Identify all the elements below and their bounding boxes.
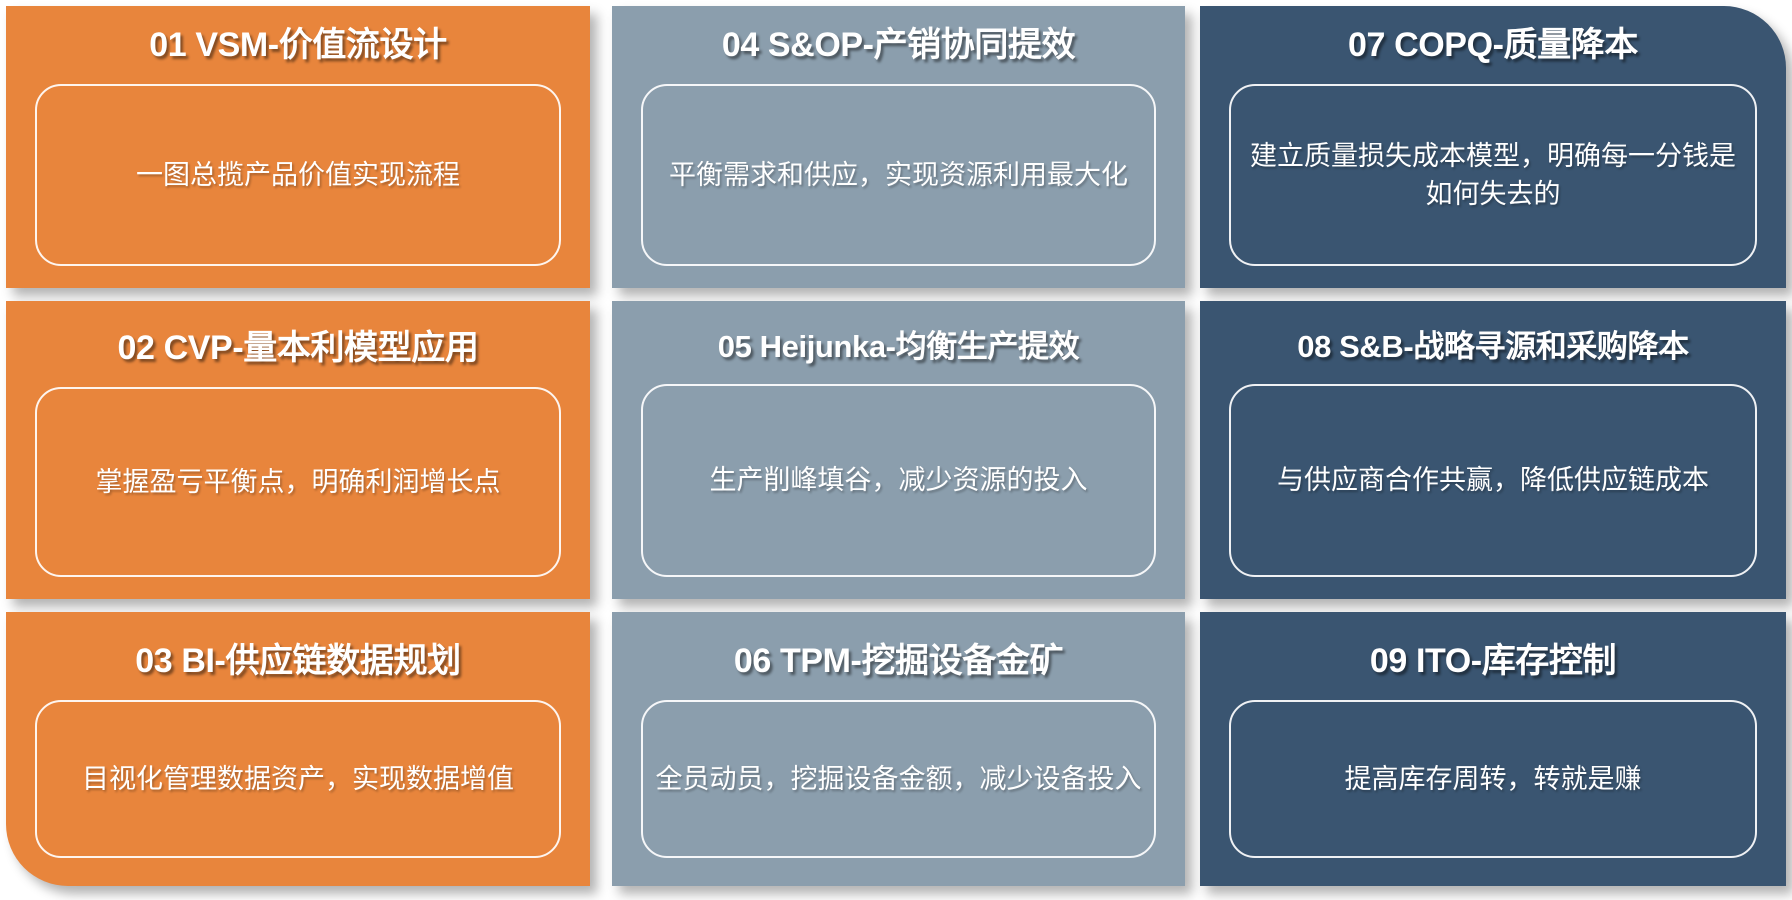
card-body-text: 目视化管理数据资产，实现数据增值 <box>72 760 524 798</box>
card-08-sb[interactable]: 08 S&B-战略寻源和采购降本 与供应商合作共赢，降低供应链成本 <box>1200 301 1786 599</box>
card-body: 平衡需求和供应，实现资源利用最大化 <box>641 84 1156 266</box>
card-title: 05 Heijunka-均衡生产提效 <box>612 331 1185 364</box>
card-title: 02 CVP-量本利模型应用 <box>6 331 590 367</box>
card-body: 建立质量损失成本模型，明确每一分钱是如何失去的 <box>1229 84 1757 266</box>
card-body-text: 平衡需求和供应，实现资源利用最大化 <box>659 156 1138 194</box>
card-title: 06 TPM-挖掘设备金矿 <box>612 644 1185 680</box>
card-body: 一图总揽产品价值实现流程 <box>35 84 561 266</box>
card-title: 01 VSM-价值流设计 <box>6 28 590 64</box>
card-body: 与供应商合作共赢，降低供应链成本 <box>1229 384 1757 577</box>
card-title: 09 ITO-库存控制 <box>1200 644 1786 680</box>
card-body: 目视化管理数据资产，实现数据增值 <box>35 700 561 858</box>
card-body-text: 建立质量损失成本模型，明确每一分钱是如何失去的 <box>1231 137 1755 214</box>
card-grid-board: 01 VSM-价值流设计 一图总揽产品价值实现流程 04 S&OP-产销协同提效… <box>0 0 1792 900</box>
card-02-cvp[interactable]: 02 CVP-量本利模型应用 掌握盈亏平衡点，明确利润增长点 <box>6 301 590 599</box>
card-01-vsm[interactable]: 01 VSM-价值流设计 一图总揽产品价值实现流程 <box>6 6 590 288</box>
card-07-copq[interactable]: 07 COPQ-质量降本 建立质量损失成本模型，明确每一分钱是如何失去的 <box>1200 6 1786 288</box>
card-09-ito[interactable]: 09 ITO-库存控制 提高库存周转，转就是赚 <box>1200 612 1786 886</box>
card-body: 生产削峰填谷，减少资源的投入 <box>641 384 1156 577</box>
card-body-text: 全员动员，挖掘设备金额，减少设备投入 <box>646 760 1152 798</box>
card-body: 提高库存周转，转就是赚 <box>1229 700 1757 858</box>
card-06-tpm[interactable]: 06 TPM-挖掘设备金矿 全员动员，挖掘设备金额，减少设备投入 <box>612 612 1185 886</box>
card-03-bi[interactable]: 03 BI-供应链数据规划 目视化管理数据资产，实现数据增值 <box>6 612 590 886</box>
card-title: 04 S&OP-产销协同提效 <box>612 28 1185 64</box>
card-title: 08 S&B-战略寻源和采购降本 <box>1200 331 1786 364</box>
card-body: 全员动员，挖掘设备金额，减少设备投入 <box>641 700 1156 858</box>
card-05-heijunka[interactable]: 05 Heijunka-均衡生产提效 生产削峰填谷，减少资源的投入 <box>612 301 1185 599</box>
card-body-text: 掌握盈亏平衡点，明确利润增长点 <box>86 463 511 501</box>
card-body-text: 一图总揽产品价值实现流程 <box>126 156 470 194</box>
card-title: 03 BI-供应链数据规划 <box>6 644 590 680</box>
card-body-text: 与供应商合作共赢，降低供应链成本 <box>1267 461 1719 499</box>
card-title: 07 COPQ-质量降本 <box>1200 28 1786 64</box>
card-body-text: 生产削峰填谷，减少资源的投入 <box>700 461 1098 499</box>
card-body-text: 提高库存周转，转就是赚 <box>1335 760 1652 798</box>
card-body: 掌握盈亏平衡点，明确利润增长点 <box>35 387 561 577</box>
card-04-sop[interactable]: 04 S&OP-产销协同提效 平衡需求和供应，实现资源利用最大化 <box>612 6 1185 288</box>
